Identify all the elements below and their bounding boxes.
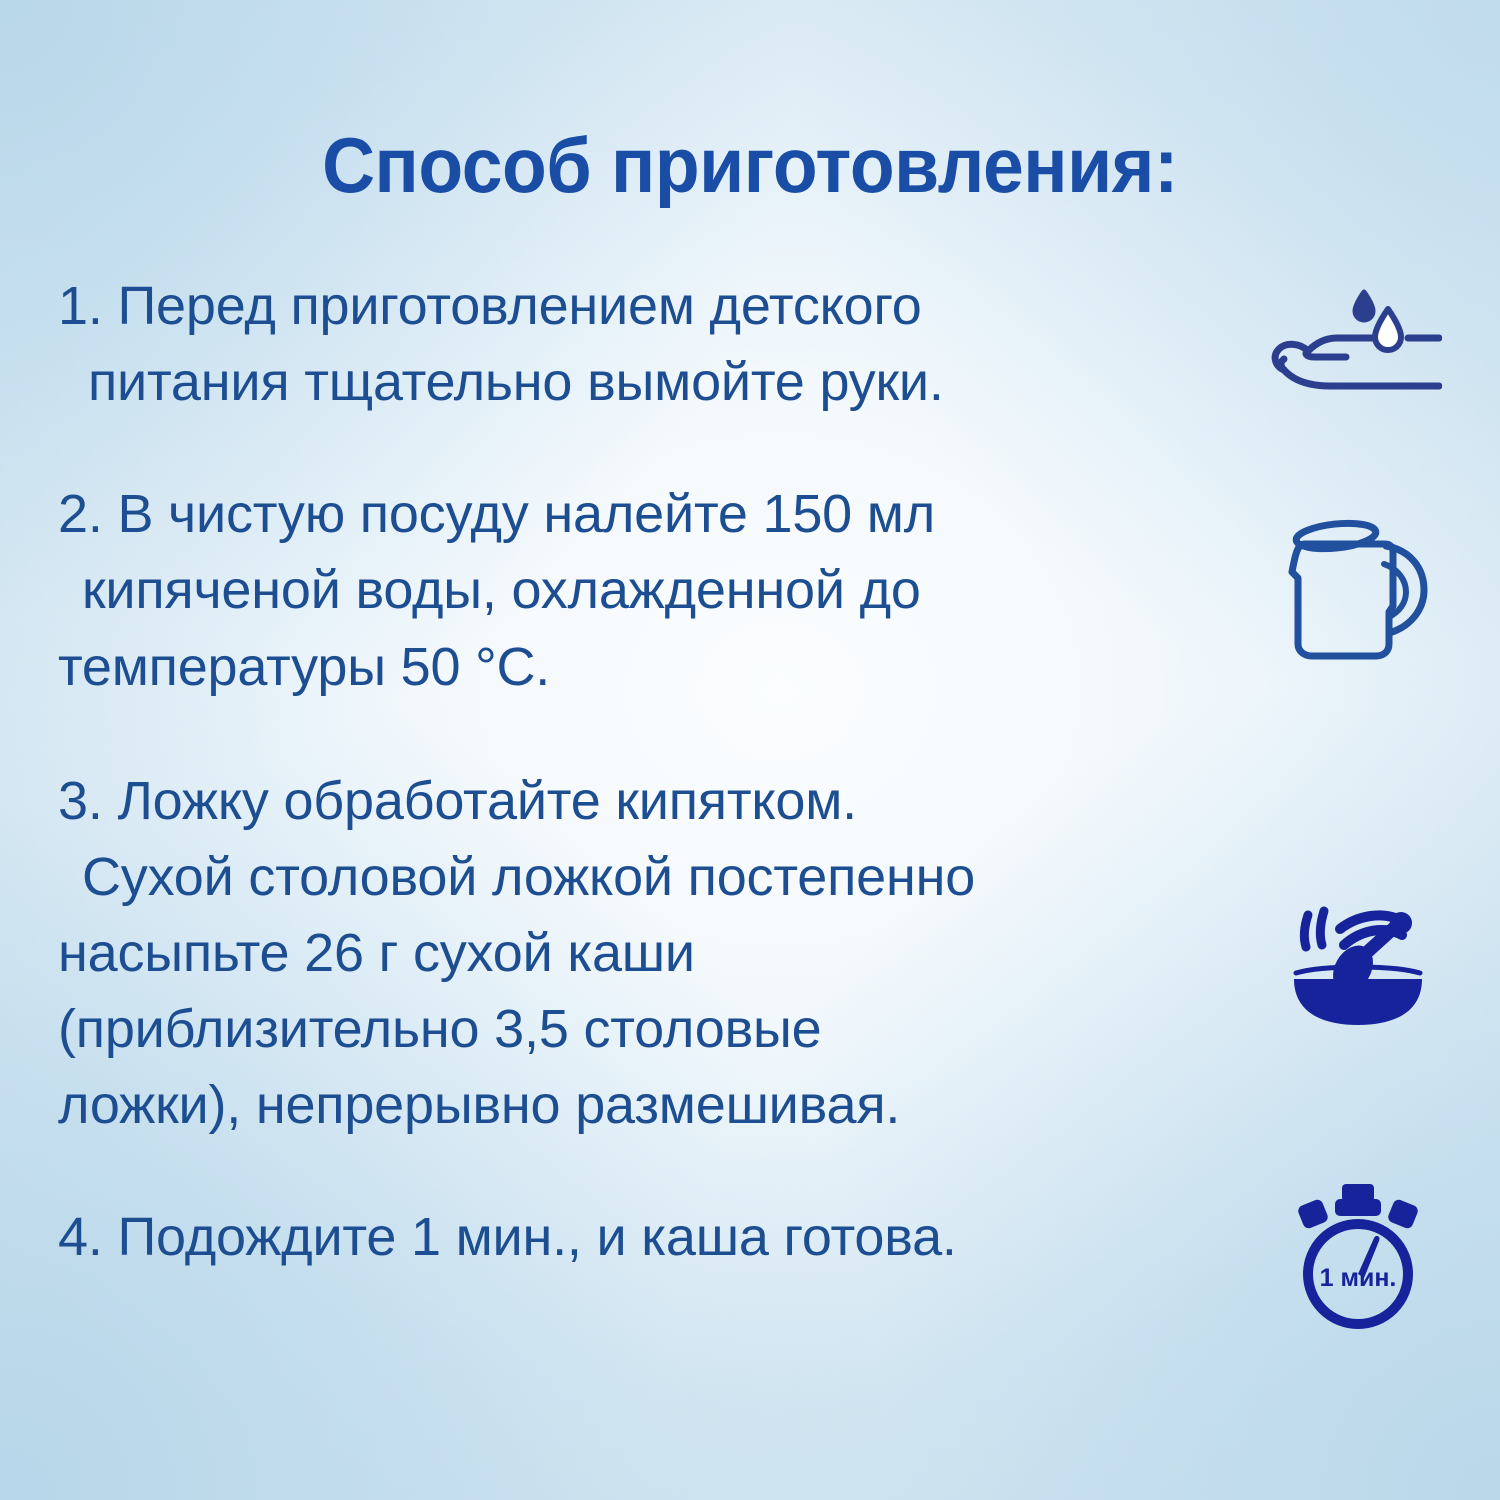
step-2-line-1: 2. В чистую посуду налейте 150 мл (58, 476, 1248, 552)
step-1-line-1: 1. Перед приготовлением детского (58, 268, 1248, 344)
poster-content: Способ приготовления: 1. Перед приготовл… (0, 0, 1500, 1500)
kettle-icon (1274, 516, 1442, 666)
step-3-line-2: Сухой столовой ложкой постепенно (58, 839, 1248, 915)
step-4-line-1: 4. Подождите 1 мин., и каша готова. (58, 1199, 1248, 1275)
step-item-2: 2. В чистую посуду налейте 150 мл кипяче… (58, 476, 1248, 704)
step-3-line-5: ложки), непрерывно размешивая. (58, 1067, 1248, 1143)
step-2-line-2: кипяченой воды, охлажденной до (58, 552, 1248, 628)
stopwatch-icon: 1 мин. (1274, 1182, 1442, 1332)
step-2-line-3: температуры 50 °C. (58, 629, 1248, 705)
hands-water-drop-icon (1262, 283, 1442, 393)
page-title: Способ приготовления: (45, 120, 1455, 211)
recipe-poster: Способ приготовления: 1. Перед приготовл… (0, 0, 1500, 1500)
step-item-4: 4. Подождите 1 мин., и каша готова. (58, 1199, 1248, 1275)
step-3-line-1: 3. Ложку обработайте кипятком. (58, 763, 1248, 839)
step-item-1: 1. Перед приготовлением детского питания… (58, 268, 1248, 420)
step-item-3: 3. Ложку обработайте кипятком. Сухой сто… (58, 763, 1248, 1144)
steps-list: 1. Перед приготовлением детского питания… (58, 268, 1248, 1275)
step-3-line-4: (приблизительно 3,5 столовые (58, 991, 1248, 1067)
step-3-line-3: насыпьте 26 г сухой каши (58, 915, 1248, 991)
bowl-with-spoon-icon (1274, 893, 1442, 1025)
stopwatch-label: 1 мин. (1320, 1264, 1397, 1292)
step-1-line-2: питания тщательно вымойте руки. (58, 344, 1248, 420)
